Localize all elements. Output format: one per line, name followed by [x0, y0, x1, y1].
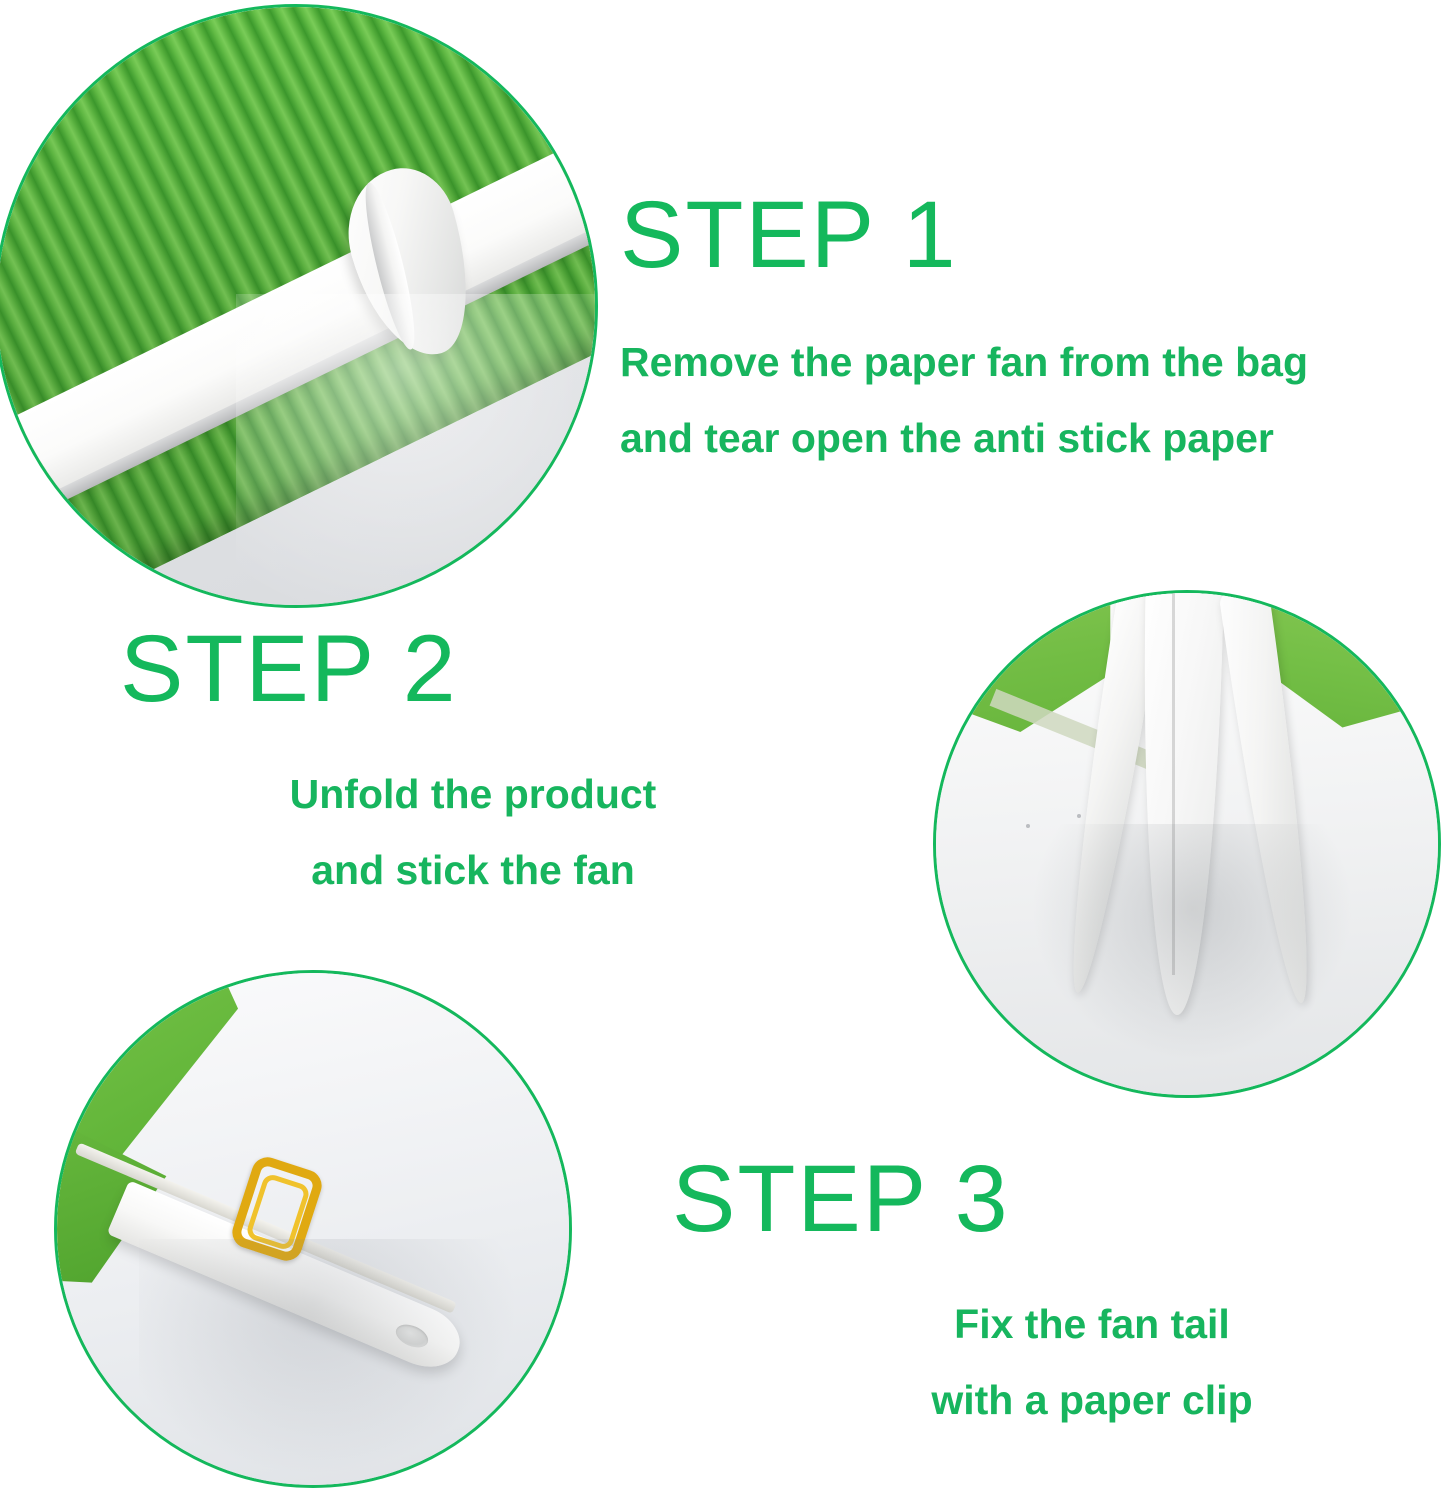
- step-2-line-2: and stick the fan: [128, 833, 818, 909]
- step-3-text-block: STEP 3 Fix the fan tail with a paper cli…: [672, 1152, 1392, 1439]
- step-3-line-1: Fix the fan tail: [792, 1287, 1392, 1363]
- drop-shadow: [1026, 824, 1357, 1065]
- step-1-photo-content: [0, 7, 595, 605]
- step-1-text-block: STEP 1 Remove the paper fan from the bag…: [620, 188, 1308, 477]
- step-1-title: STEP 1: [620, 188, 1308, 283]
- step-2-line-1: Unfold the product: [128, 757, 818, 833]
- step-3-photo: [54, 970, 572, 1488]
- surface-gloss: [236, 294, 595, 605]
- step-1-line-2: and tear open the anti stick paper: [620, 401, 1308, 477]
- step-2-text-block: STEP 2 Unfold the product and stick the …: [120, 622, 818, 909]
- step-1-photo: [0, 4, 598, 608]
- step-3-description: Fix the fan tail with a paper clip: [792, 1287, 1392, 1439]
- step-2-photo: [933, 590, 1441, 1098]
- step-2-description: Unfold the product and stick the fan: [128, 757, 818, 909]
- instruction-infographic: STEP 1 Remove the paper fan from the bag…: [0, 0, 1447, 1500]
- step-3-title: STEP 3: [672, 1152, 1392, 1247]
- step-3-line-2: with a paper clip: [792, 1363, 1392, 1439]
- drop-shadow: [139, 1239, 518, 1475]
- step-2-title: STEP 2: [120, 622, 818, 717]
- step-1-description: Remove the paper fan from the bag and te…: [620, 325, 1308, 477]
- step-3-photo-content: [57, 973, 569, 1485]
- surface-speck: [1077, 814, 1081, 818]
- step-2-photo-content: [936, 593, 1438, 1095]
- step-1-line-1: Remove the paper fan from the bag: [620, 325, 1308, 401]
